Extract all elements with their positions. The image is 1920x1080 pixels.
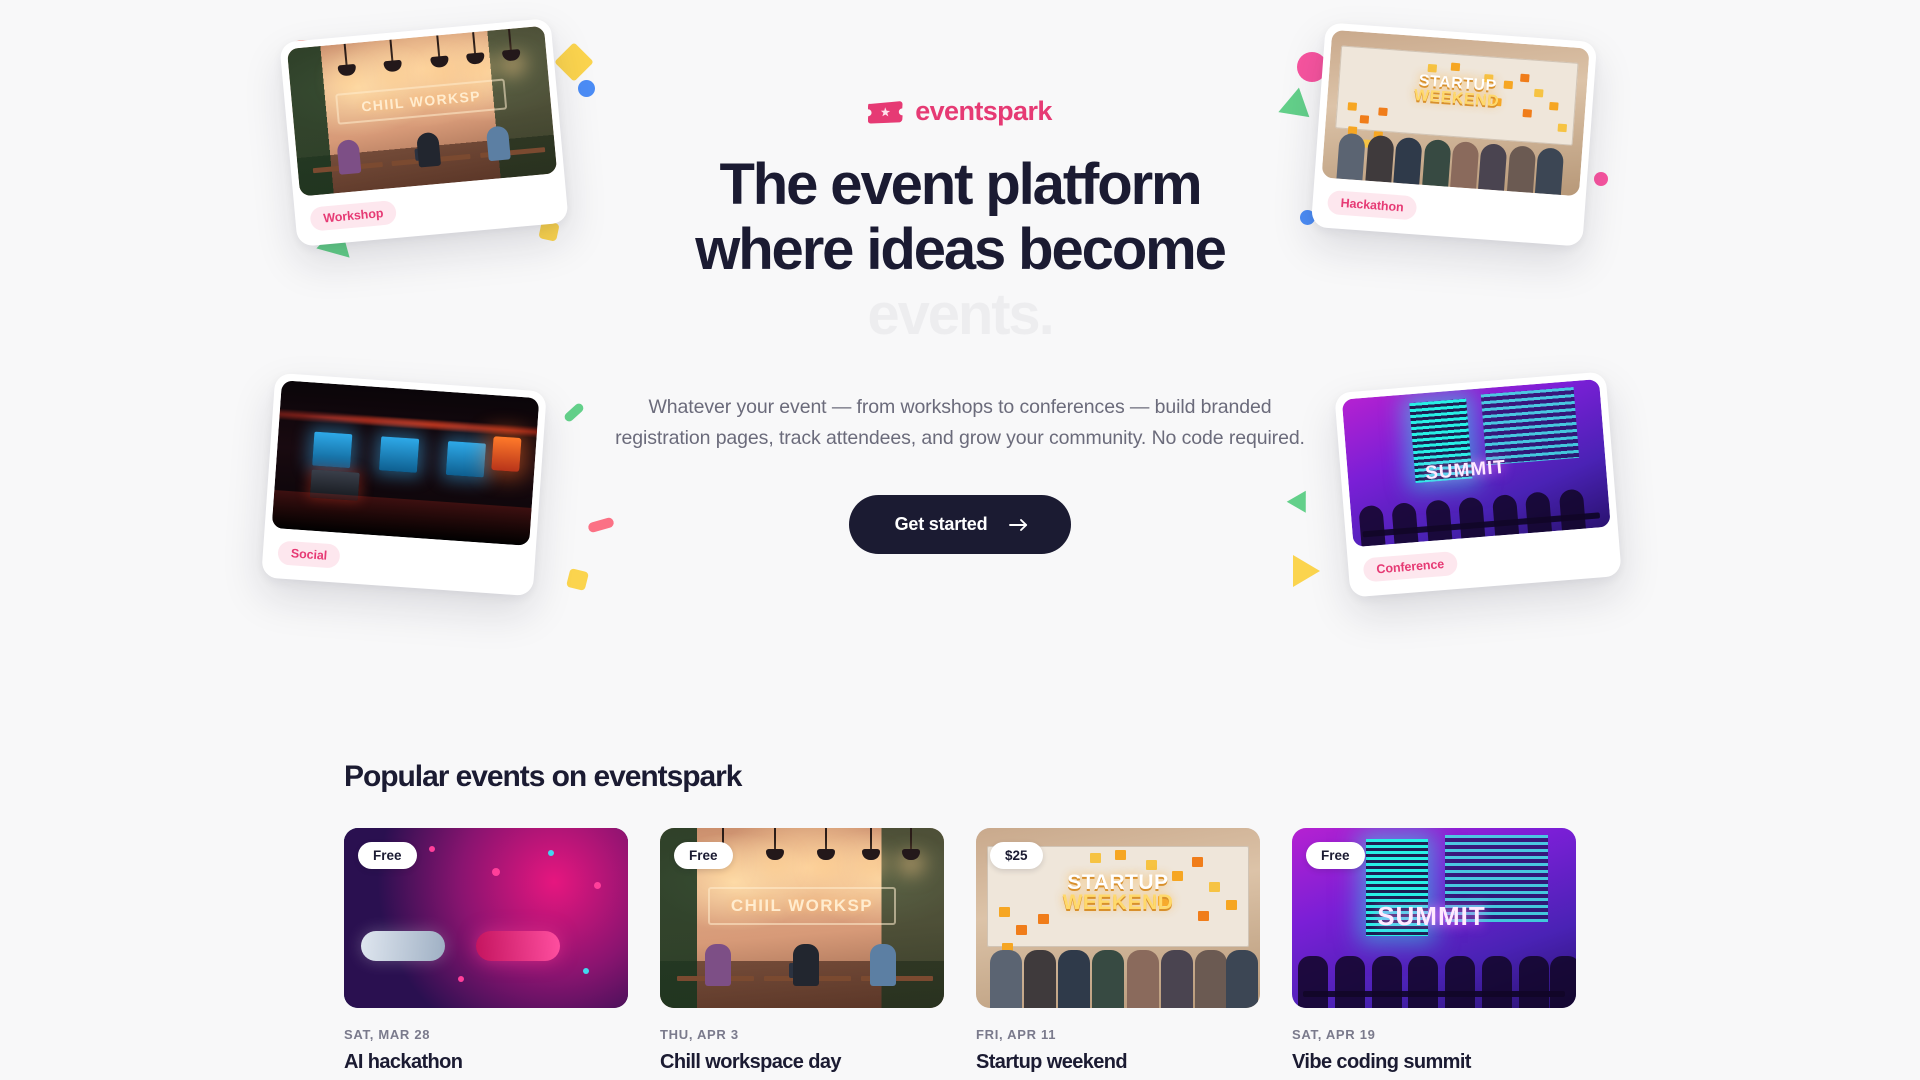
event-card-image: CHIIL WORKSP Free	[660, 828, 944, 1008]
floating-card-conference-chip: Conference	[1363, 551, 1458, 582]
headline-line-2: where ideas become	[695, 217, 1225, 282]
event-date: SAT, MAR 28	[344, 1027, 628, 1042]
conference-audience	[1292, 929, 1576, 1008]
floating-card-hackathon[interactable]: STARTUP WEEKEND Hackathon	[1311, 22, 1597, 246]
hero-subheading: Whatever your event — from workshops to …	[600, 392, 1320, 454]
event-price-badge: Free	[674, 842, 733, 869]
event-title: Chill workspace day	[660, 1051, 944, 1074]
popular-events-title: Popular events on eventspark	[344, 760, 1576, 794]
floating-card-workshop[interactable]: CHIIL WORKSP Workshop	[279, 18, 568, 247]
event-card[interactable]: SUMMIT Free SAT, APR 19 Vibe coding summ…	[1292, 828, 1576, 1074]
arrow-right-icon	[1009, 518, 1029, 532]
floating-card-social-image	[272, 380, 540, 546]
workshop-wall-sign: CHIIL WORKSP	[708, 887, 895, 925]
conference-stage-sign: SUMMIT	[1377, 901, 1486, 932]
decor-pill-green-bl	[563, 402, 585, 423]
floating-card-social-chip: Social	[277, 540, 341, 568]
event-title: Startup weekend	[976, 1051, 1260, 1074]
floating-card-conference[interactable]: SUMMIT Conference	[1334, 371, 1622, 597]
event-card[interactable]: STARTUP WEEKEND $25 FRI,	[976, 828, 1260, 1074]
floating-card-hackathon-image: STARTUP WEEKEND	[1322, 30, 1590, 196]
floating-card-social[interactable]: Social	[261, 373, 547, 596]
headline-line-3: events.	[600, 283, 1320, 348]
event-price-badge: Free	[358, 842, 417, 869]
decor-triangle-yellow-br	[1293, 555, 1320, 587]
event-card-image: STARTUP WEEKEND $25	[976, 828, 1260, 1008]
event-title: Vibe coding summit	[1292, 1051, 1576, 1074]
event-card[interactable]: Free SAT, MAR 28 AI hackathon	[344, 828, 628, 1074]
get-started-label: Get started	[895, 514, 988, 535]
floating-card-workshop-image: CHIIL WORKSP	[287, 26, 557, 197]
hero-content: eventspark The event platform where idea…	[600, 96, 1320, 554]
decor-square-yellow-bl	[566, 568, 589, 591]
decor-circle-pink-tr2	[1594, 172, 1608, 186]
headline-line-1: The event platform	[719, 152, 1200, 217]
hackathon-wall-sign: STARTUP WEEKEND	[1038, 873, 1197, 913]
event-date: FRI, APR 11	[976, 1027, 1260, 1042]
event-date: THU, APR 3	[660, 1027, 944, 1042]
ticket-icon	[868, 99, 904, 124]
hero-section: CHIIL WORKSP Workshop	[0, 0, 1920, 700]
event-price-badge: $25	[990, 842, 1043, 869]
popular-events-grid: Free SAT, MAR 28 AI hackathon CHIIL WORK…	[344, 828, 1576, 1074]
brand-name: eventspark	[915, 96, 1052, 127]
hackathon-crowd	[976, 925, 1260, 1008]
event-title: AI hackathon	[344, 1051, 628, 1074]
decor-diamond-yellow-tl	[554, 42, 594, 82]
event-date: SAT, APR 19	[1292, 1027, 1576, 1042]
event-card-image: Free	[344, 828, 628, 1008]
event-card-image: SUMMIT Free	[1292, 828, 1576, 1008]
brand-logo[interactable]: eventspark	[600, 96, 1320, 127]
event-price-badge: Free	[1306, 842, 1365, 869]
hero-cta-wrap: Get started	[600, 495, 1320, 554]
page-title: The event platform where ideas become ev…	[600, 153, 1320, 348]
decor-circle-blue-tl	[578, 80, 595, 97]
event-card[interactable]: CHIIL WORKSP Free THU, APR 3 Chill works…	[660, 828, 944, 1074]
get-started-button[interactable]: Get started	[849, 495, 1072, 554]
popular-events-section: Popular events on eventspark	[0, 760, 1920, 1074]
floating-card-conference-image: SUMMIT	[1342, 379, 1611, 547]
floating-card-hackathon-chip: Hackathon	[1327, 190, 1418, 220]
floating-card-workshop-chip: Workshop	[309, 200, 397, 232]
